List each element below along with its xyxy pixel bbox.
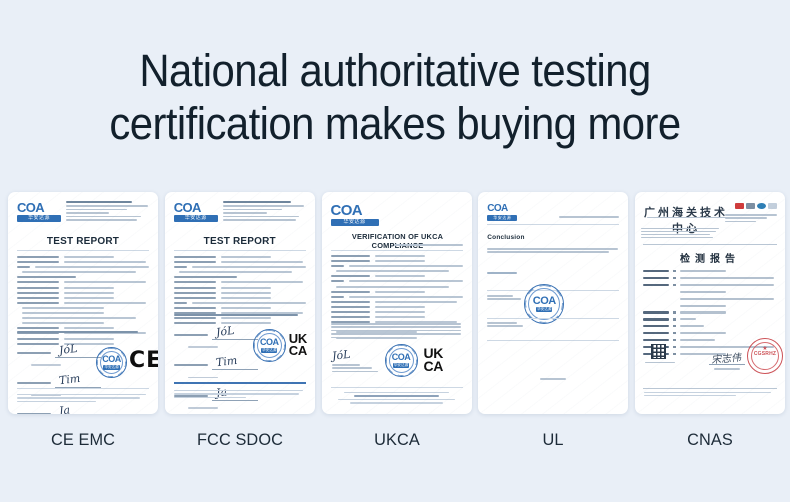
ukca-mark-icon: UK CA	[424, 347, 444, 373]
report-meta	[725, 214, 777, 224]
certificate-thumbnail-fcc-sdoc[interactable]: COA 华安达源 TEST REPORT	[165, 192, 315, 414]
certificate-caption: CNAS	[638, 430, 782, 450]
signature-block: JóL	[332, 347, 384, 374]
issuer-header-block	[66, 201, 151, 222]
disclaimer-footnote	[644, 392, 776, 398]
certificate-thumbnail-ce-emc[interactable]: COA 华安达源 TEST REPORT	[8, 192, 158, 414]
document-title: TEST REPORT	[165, 236, 315, 247]
ce-mark-icon: CE	[129, 350, 158, 372]
certificate-item-ul[interactable]: COA 华安达源 Conclusion	[478, 192, 628, 450]
reviewed-by-value	[487, 322, 523, 329]
certificate-caption: UL	[481, 430, 625, 450]
end-of-report	[478, 378, 628, 380]
coa-logo-icon: COA 华安达源	[174, 202, 218, 222]
certificate-item-fcc-sdoc[interactable]: COA 华安达源 TEST REPORT	[165, 192, 315, 450]
certificate-number	[331, 244, 463, 247]
document-title: TEST REPORT	[8, 236, 158, 247]
report-number	[559, 216, 619, 219]
coa-logo-icon: COA 华安达源	[331, 204, 379, 226]
prepared-by-label	[487, 272, 517, 276]
coa-round-stamp: COA 华安达源	[385, 344, 418, 377]
certificate-item-ukca[interactable]: COA 华安达源 VERIFICATION OF UKCA COMPLIANCE	[322, 192, 472, 450]
disclaimer-footnote	[17, 394, 149, 404]
signature-block: JóL Tim Ja	[174, 326, 260, 414]
issuer-header-block	[223, 201, 308, 222]
certificate-item-cnas[interactable]: 广州海关技术中心	[635, 192, 785, 450]
promo-page: National authoritative testing certifica…	[0, 0, 790, 502]
coa-round-stamp: COA 华安达源	[96, 347, 127, 378]
signature-line	[709, 364, 745, 370]
accreditation-badges	[735, 203, 777, 209]
issuer-address	[641, 228, 719, 240]
prepared-by-value	[487, 295, 521, 302]
headline-line-1: National authoritative testing	[139, 45, 650, 96]
ukca-mark-icon: UK CA	[289, 333, 307, 357]
coa-round-stamp: COA 华安达源	[253, 329, 286, 362]
certificate-gallery: COA 华安达源 TEST REPORT	[8, 192, 785, 416]
coa-logo-icon: COA 华安达源	[487, 204, 517, 221]
certificate-thumbnail-ukca[interactable]: COA 华安达源 VERIFICATION OF UKCA COMPLIANCE	[322, 192, 472, 414]
conclusion-text	[487, 248, 619, 255]
cnas-report-title: 检测报告	[635, 250, 785, 265]
certificate-thumbnail-cnas[interactable]: 广州海关技术中心	[635, 192, 785, 414]
certificate-thumbnail-ul[interactable]: COA 华安达源 Conclusion	[478, 192, 628, 414]
badge-ilac-icon	[757, 203, 766, 209]
coa-logo-icon: COA 华安达源	[17, 202, 61, 222]
page-title: National authoritative testing certifica…	[28, 44, 763, 150]
certificate-item-ce-emc[interactable]: COA 华安达源 TEST REPORT	[8, 192, 158, 450]
compliance-statement	[331, 323, 463, 340]
badge-extra-icon	[768, 203, 777, 209]
conformity-note	[174, 314, 306, 318]
conclusion-heading: Conclusion	[487, 234, 524, 241]
issuer-subline	[647, 217, 729, 220]
qr-code	[651, 344, 666, 359]
disclaimer-footnote	[331, 392, 463, 404]
conformity-note	[17, 331, 149, 335]
certificate-caption: UKCA	[325, 430, 469, 450]
qr-caption	[645, 362, 675, 365]
headline-line-2: certification makes buying more	[28, 97, 763, 150]
certificate-caption: FCC SDOC	[168, 430, 312, 450]
certificate-caption: CE EMC	[11, 430, 155, 450]
official-red-seal: ★ CGSRHZ	[747, 338, 783, 374]
disclaimer-footnote	[174, 390, 306, 400]
badge-ce-icon	[735, 203, 744, 209]
badge-cnas-icon	[746, 203, 755, 209]
